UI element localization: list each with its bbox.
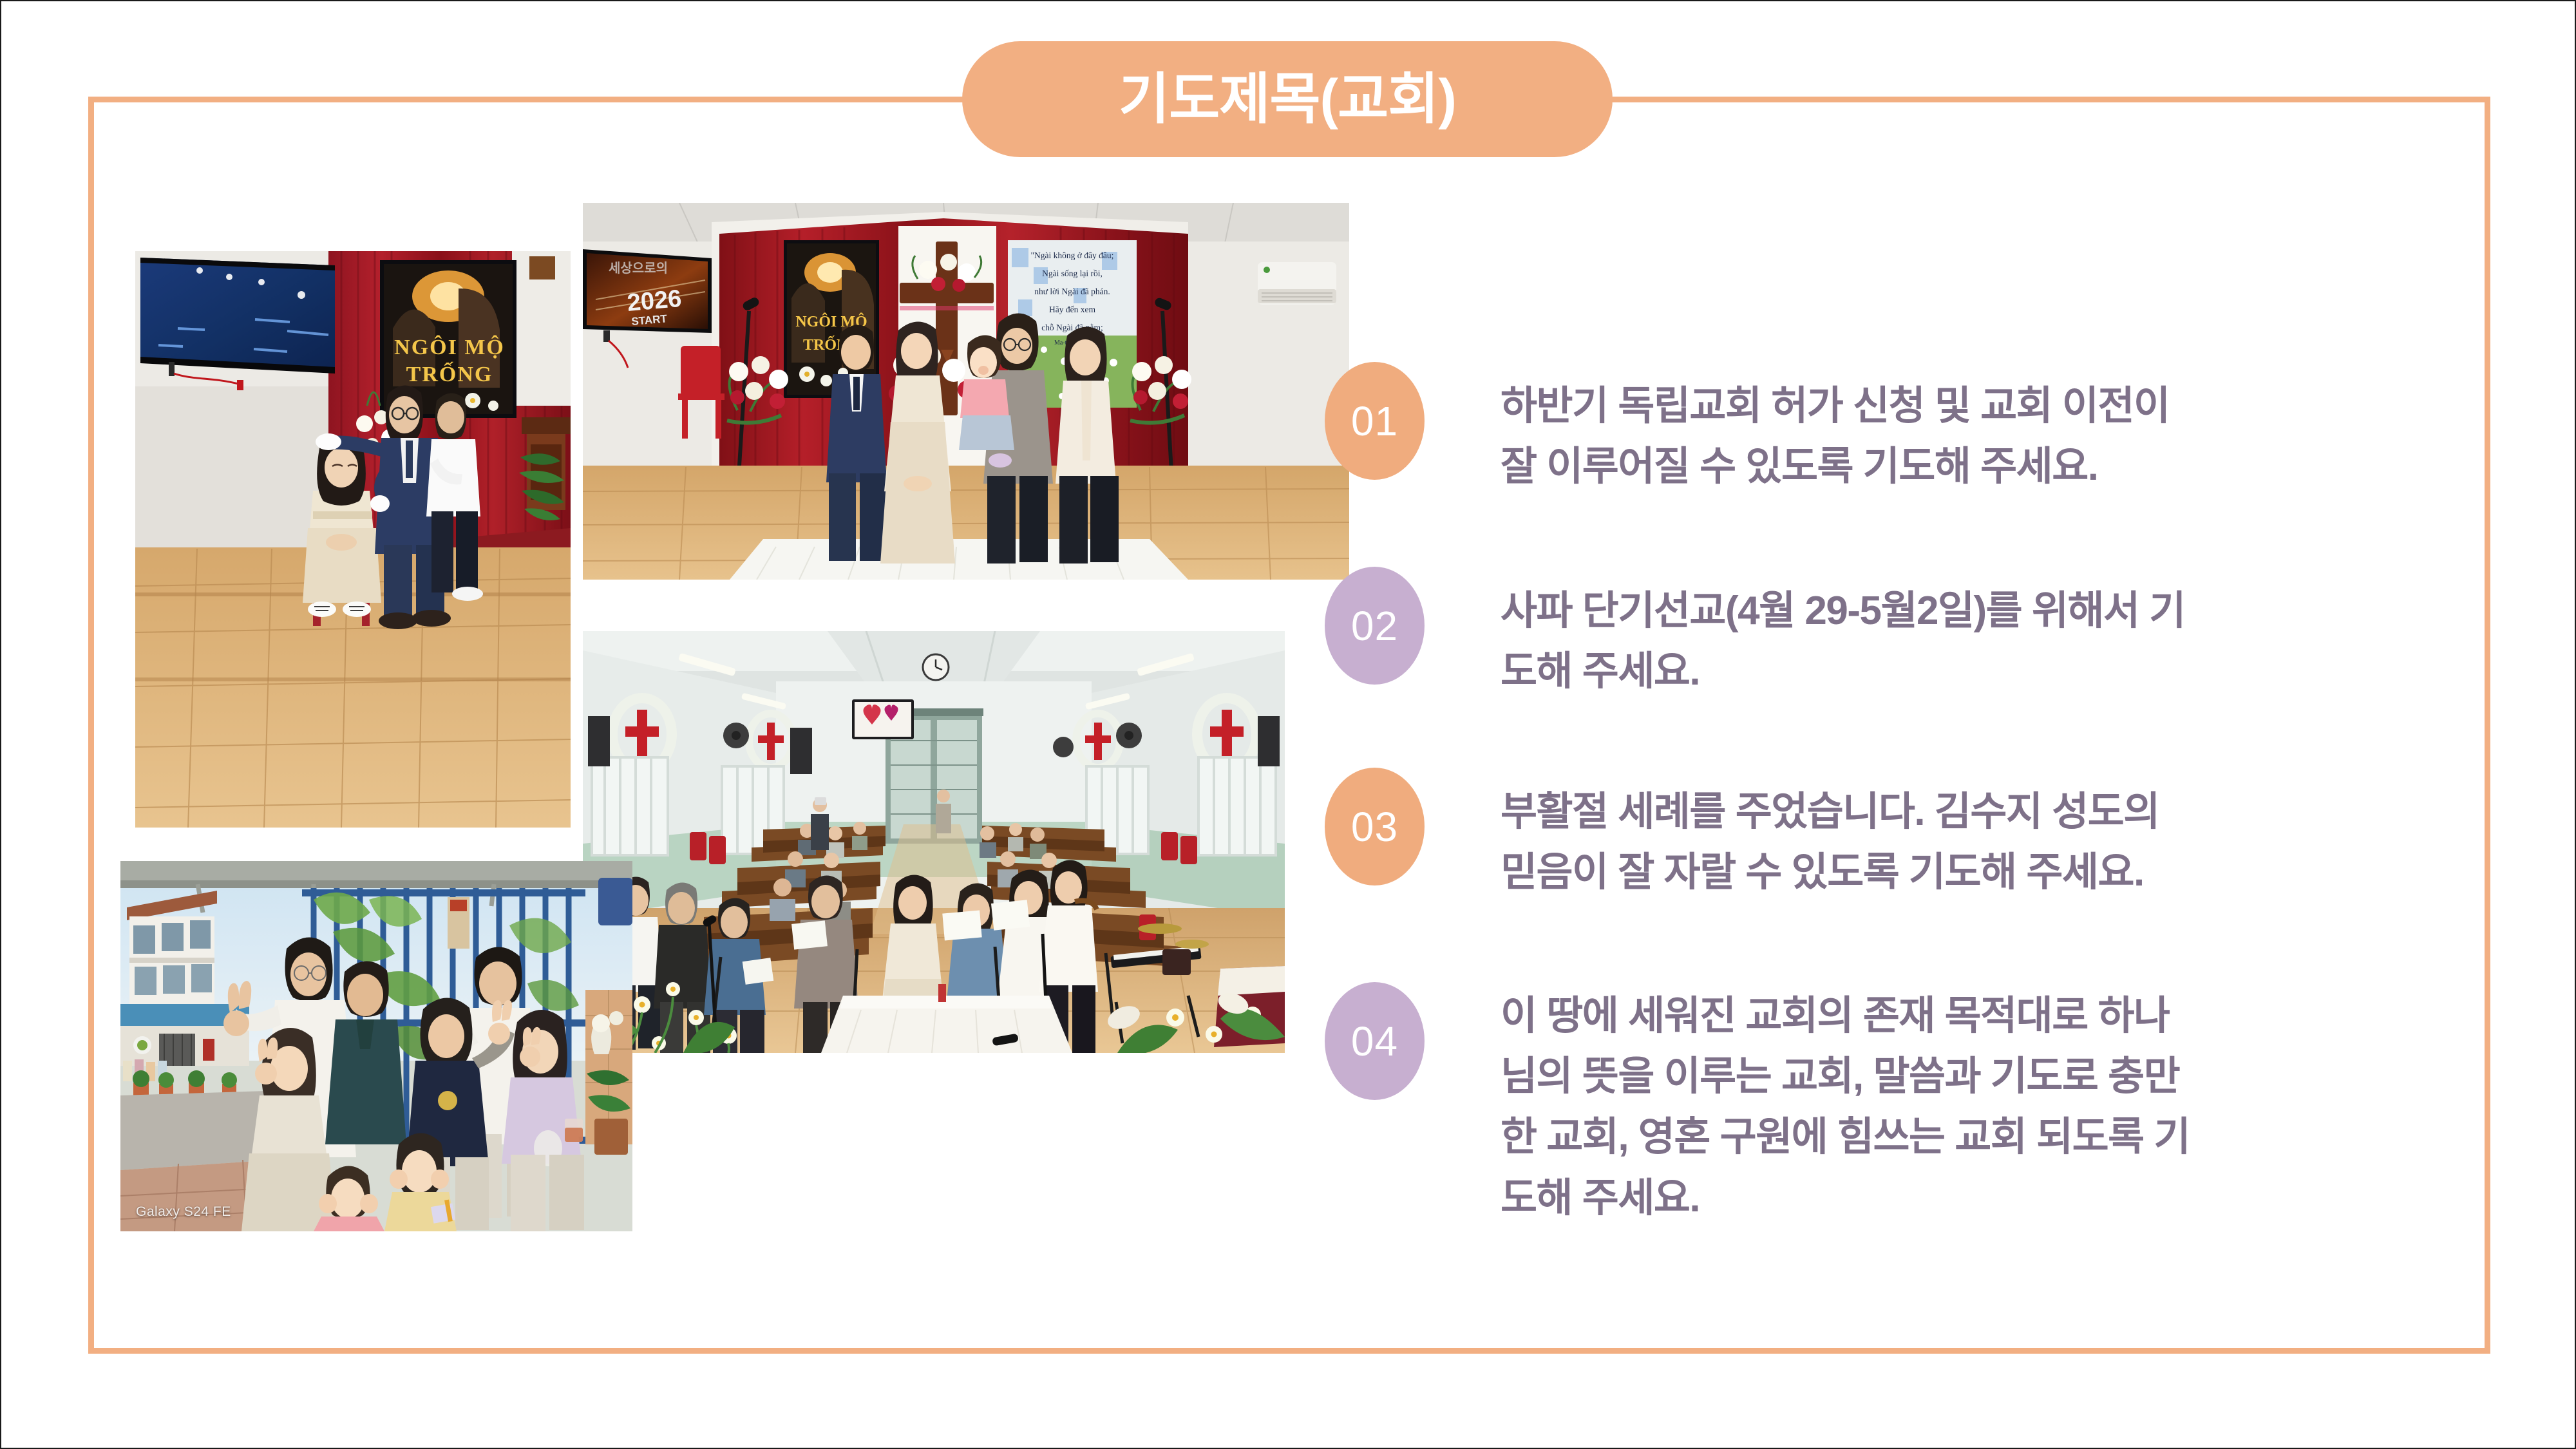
page-title: 기도제목(교회) — [1119, 71, 1456, 127]
prayer-item: 01 하반기 독립교회 허가 신청 및 교회 이전이 잘 이루어질 수 있도록 … — [1325, 362, 2415, 497]
prayer-text: 하반기 독립교회 허가 신청 및 교회 이전이 잘 이루어질 수 있도록 기도해… — [1501, 362, 2415, 497]
prayer-item: 02 사파 단기선교(4월 29-5월2일)를 위해서 기 도해 주세요. — [1325, 567, 2415, 702]
group-outdoor-photo: Galaxy S24 FE — [120, 861, 632, 1231]
prayer-number-badge: 02 — [1325, 567, 1425, 685]
worship-service-photo — [583, 631, 1285, 1053]
family-stage-photo: NGÔI MỘ TRỐNG — [583, 203, 1349, 580]
svg-text:Ngài sống lại rồi,: Ngài sống lại rồi, — [1042, 269, 1103, 278]
svg-text:TRỐNG: TRỐNG — [406, 361, 493, 386]
svg-text:như lời Ngài đã phán.: như lời Ngài đã phán. — [1034, 287, 1110, 296]
prayer-item: 04 이 땅에 세워진 교회의 존재 목적대로 하나 님의 뜻을 이루는 교회,… — [1325, 982, 2415, 1229]
svg-text:2026: 2026 — [626, 285, 683, 317]
prayer-number-badge: 04 — [1325, 982, 1425, 1100]
prayer-item: 03 부활절 세례를 주었습니다. 김수지 성도의 믿음이 잘 자랄 수 있도록… — [1325, 768, 2415, 903]
slide-canvas: 기도제목(교회) — [0, 0, 2576, 1449]
prayer-number-badge: 03 — [1325, 768, 1425, 885]
title-banner: 기도제목(교회) — [962, 41, 1613, 157]
prayer-text: 사파 단기선교(4월 29-5월2일)를 위해서 기 도해 주세요. — [1501, 567, 2415, 702]
prayer-text: 이 땅에 세워진 교회의 존재 목적대로 하나 님의 뜻을 이루는 교회, 말씀… — [1501, 982, 2415, 1229]
prayer-number-badge: 01 — [1325, 362, 1425, 480]
baptism-photo: NGÔI MỘ TRỐNG — [135, 251, 571, 828]
photo-watermark: Galaxy S24 FE — [136, 1204, 231, 1220]
svg-text:NGÔI MỘ: NGÔI MỘ — [394, 335, 505, 359]
svg-text:Hãy đến xem: Hãy đến xem — [1049, 305, 1095, 314]
svg-text:세상으로의: 세상으로의 — [609, 261, 668, 276]
svg-text:"Ngài không ở đây đâu;: "Ngài không ở đây đâu; — [1031, 251, 1114, 260]
prayer-text: 부활절 세례를 주었습니다. 김수지 성도의 믿음이 잘 자랄 수 있도록 기도… — [1501, 768, 2415, 903]
